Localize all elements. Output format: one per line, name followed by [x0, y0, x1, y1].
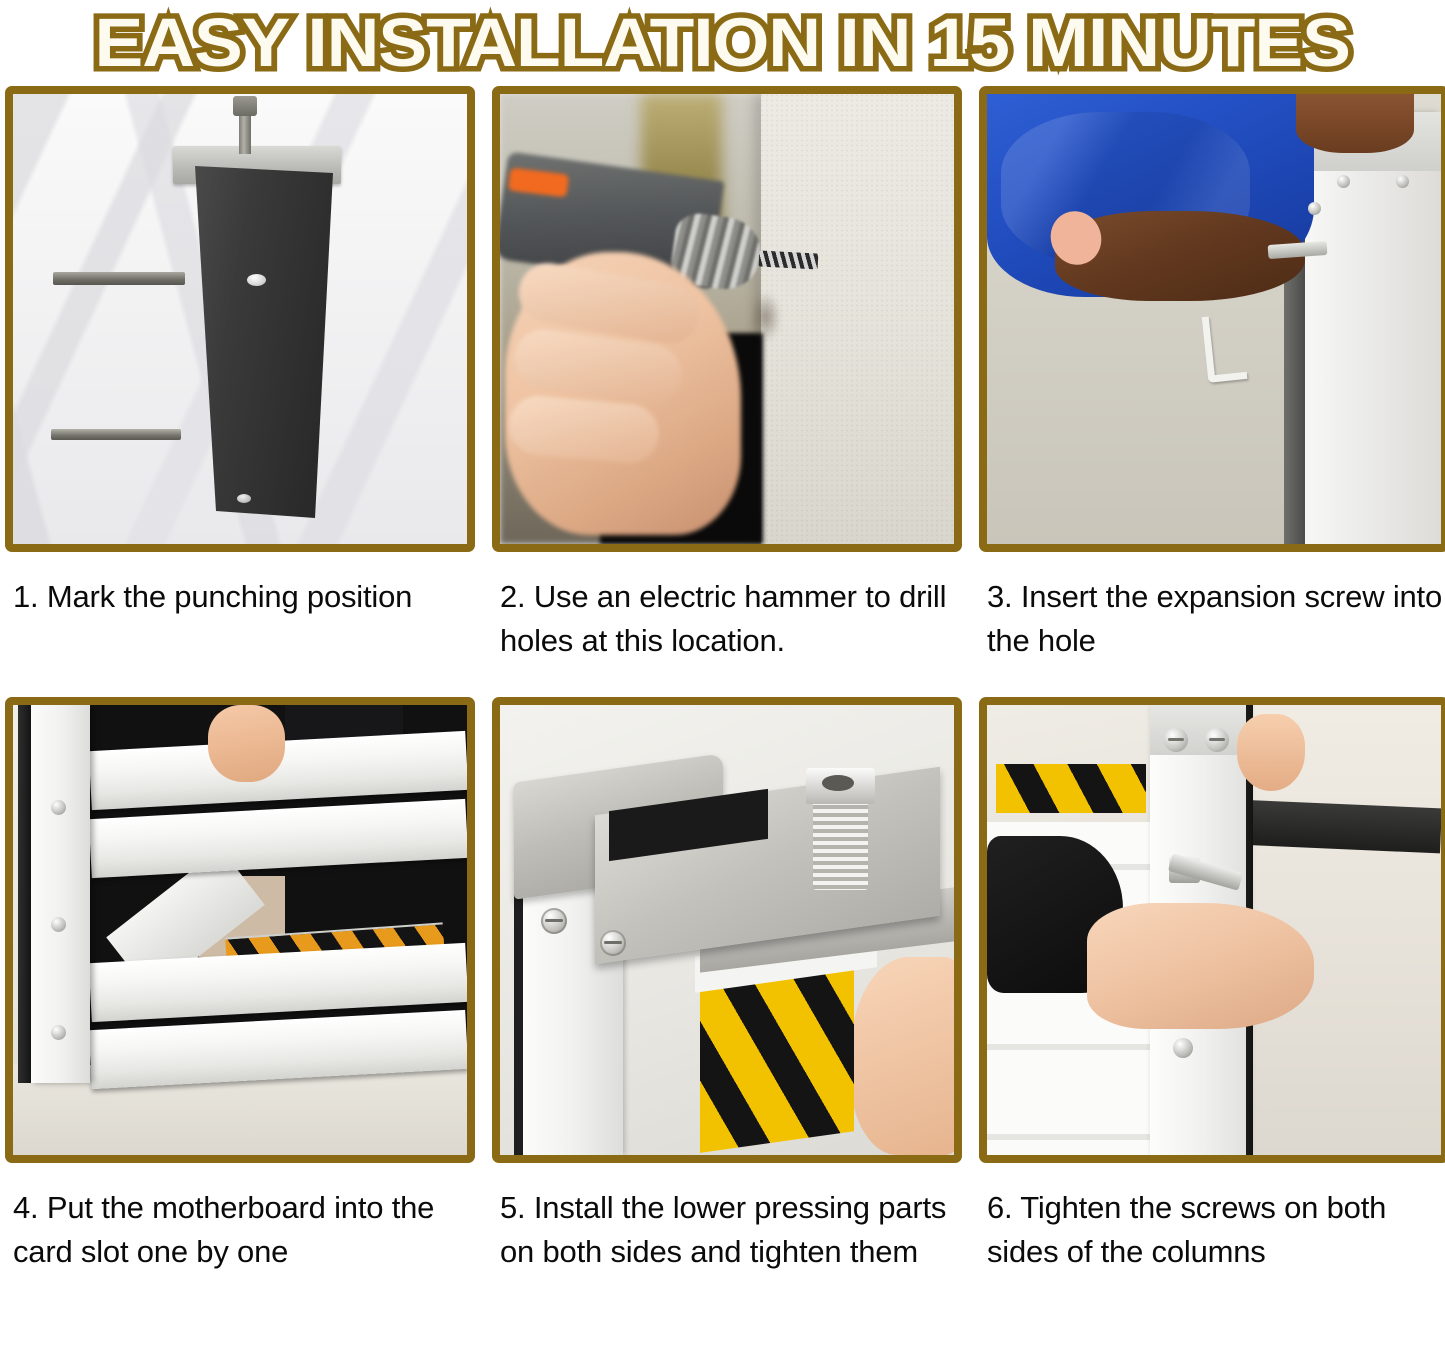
- step-card-4: 4. Put the motherboard into the card slo…: [5, 697, 475, 1316]
- step-3-caption: 3. Insert the expansion screw into the h…: [979, 552, 1445, 697]
- step-2-photo-drill-holes: [500, 94, 954, 544]
- page-title: EASY INSTALLATION IN 15 MINUTES: [95, 8, 1350, 78]
- step-1-caption: 1. Mark the punching position: [5, 552, 475, 697]
- step-5-photo-frame[interactable]: [492, 697, 962, 1163]
- step-1-photo-mark-punching-position: [13, 94, 467, 544]
- step-5-photo-install-lower-pressing-parts: [500, 705, 954, 1155]
- lower-stud: [51, 429, 181, 440]
- column-screw-3: [1308, 202, 1321, 215]
- top-bolt: [239, 102, 251, 154]
- column-screw-1: [1164, 728, 1188, 752]
- post-screw-3: [51, 1025, 66, 1040]
- installation-steps-grid: 1. Mark the punching position 2. Use an …: [0, 86, 1445, 1316]
- step-4-caption: 4. Put the motherboard into the card slo…: [5, 1163, 475, 1316]
- drill-dust: [750, 292, 782, 342]
- white-aluminium-column: [1305, 112, 1441, 544]
- step-4-photo-insert-boards-card-slot: [13, 705, 467, 1155]
- step-5-caption: 5. Install the lower pressing parts on b…: [492, 1163, 962, 1316]
- textured-wall-surface: [761, 94, 954, 544]
- step-6-caption: 6. Tighten the screws on both sides of t…: [979, 1163, 1445, 1316]
- step-3-photo-frame[interactable]: [979, 86, 1445, 552]
- upper-stud: [53, 272, 185, 285]
- step-2-caption: 2. Use an electric hammer to drill holes…: [492, 552, 962, 697]
- post-dark-edge: [18, 705, 32, 1083]
- bracket-screw-1: [541, 908, 567, 934]
- worker-hand: [208, 705, 285, 782]
- floor-skirting: [1236, 800, 1441, 854]
- worker-upper-hand: [1296, 94, 1414, 153]
- step-card-6: 6. Tighten the screws on both sides of t…: [979, 697, 1445, 1316]
- step-card-1: 1. Mark the punching position: [5, 86, 475, 697]
- step-card-2: 2. Use an electric hammer to drill holes…: [492, 86, 962, 697]
- step-card-3: 3. Insert the expansion screw into the h…: [979, 86, 1445, 697]
- step-3-photo-insert-expansion-screw: [987, 94, 1441, 544]
- lower-mounting-hole: [237, 494, 251, 503]
- bracket-screw-2: [600, 930, 626, 956]
- step-4-photo-frame[interactable]: [5, 697, 475, 1163]
- header-banner: EASY INSTALLATION IN 15 MINUTES: [0, 0, 1445, 86]
- worker-hand: [1087, 903, 1314, 1029]
- allen-key-icon: [1202, 313, 1247, 382]
- hazard-stripe-band: [996, 764, 1146, 814]
- post-screw-2: [51, 917, 66, 932]
- step-2-photo-frame[interactable]: [492, 86, 962, 552]
- worker-upper-hand: [1237, 714, 1305, 791]
- step-1-photo-frame[interactable]: [5, 86, 475, 552]
- step-6-photo-frame[interactable]: [979, 697, 1445, 1163]
- post-screw-1: [51, 800, 66, 815]
- column-screw-2: [1205, 728, 1229, 752]
- column-cap: [1150, 705, 1245, 755]
- step-card-5: 5. Install the lower pressing parts on b…: [492, 697, 962, 1316]
- upper-mounting-hole: [247, 274, 266, 286]
- step-6-photo-tighten-column-screws: [987, 705, 1441, 1155]
- drill-bit: [758, 250, 818, 269]
- hex-bolt-socket: [822, 775, 854, 791]
- lower-column-screw: [1173, 1038, 1193, 1058]
